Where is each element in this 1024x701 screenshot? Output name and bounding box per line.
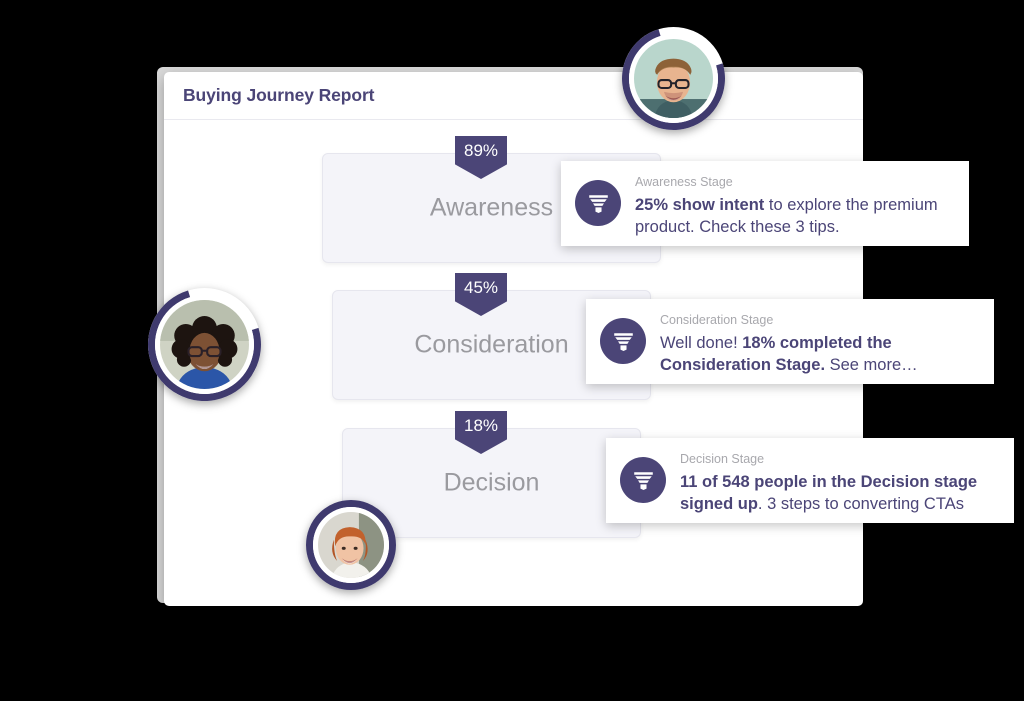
insight-rest: . 3 steps to converting CTAs — [758, 495, 964, 513]
card-header: Buying Journey Report — [164, 72, 863, 120]
insight-stage-label: Decision Stage — [680, 452, 1000, 466]
insight-rest: See more… — [825, 356, 918, 374]
insight-highlight: 25% show intent — [635, 196, 764, 214]
insight-text: Well done! 18% completed the Considerati… — [660, 333, 980, 377]
funnel-icon — [575, 180, 621, 226]
insight-stage-label: Awareness Stage — [635, 175, 955, 189]
avatar-photo — [160, 300, 249, 389]
insight-card-decision[interactable]: Decision Stage 11 of 548 people in the D… — [606, 438, 1014, 523]
insight-lead: Well done! — [660, 334, 742, 352]
avatar-woman-red-hair[interactable] — [306, 500, 396, 590]
insight-body: Awareness Stage 25% show intent to explo… — [635, 174, 955, 239]
funnel-icon — [620, 457, 666, 503]
screenshot-root: Buying Journey Report Awareness 89% Cons… — [0, 0, 1024, 701]
insight-text: 11 of 548 people in the Decision stage s… — [680, 472, 1000, 516]
insight-stage-label: Consideration Stage — [660, 313, 980, 327]
insight-body: Consideration Stage Well done! 18% compl… — [660, 312, 980, 377]
avatar-man-glasses[interactable] — [622, 27, 725, 130]
avatar-photo — [634, 39, 713, 118]
avatar-photo — [318, 512, 384, 578]
insight-text: 25% show intent to explore the premium p… — [635, 195, 955, 239]
funnel-icon — [600, 318, 646, 364]
page-title: Buying Journey Report — [183, 85, 374, 106]
avatar-woman-curly[interactable] — [148, 288, 261, 401]
insight-card-awareness[interactable]: Awareness Stage 25% show intent to explo… — [561, 161, 969, 246]
insight-card-consideration[interactable]: Consideration Stage Well done! 18% compl… — [586, 299, 994, 384]
stage-label-decision: Decision — [343, 469, 640, 498]
insight-body: Decision Stage 11 of 548 people in the D… — [680, 451, 1000, 516]
